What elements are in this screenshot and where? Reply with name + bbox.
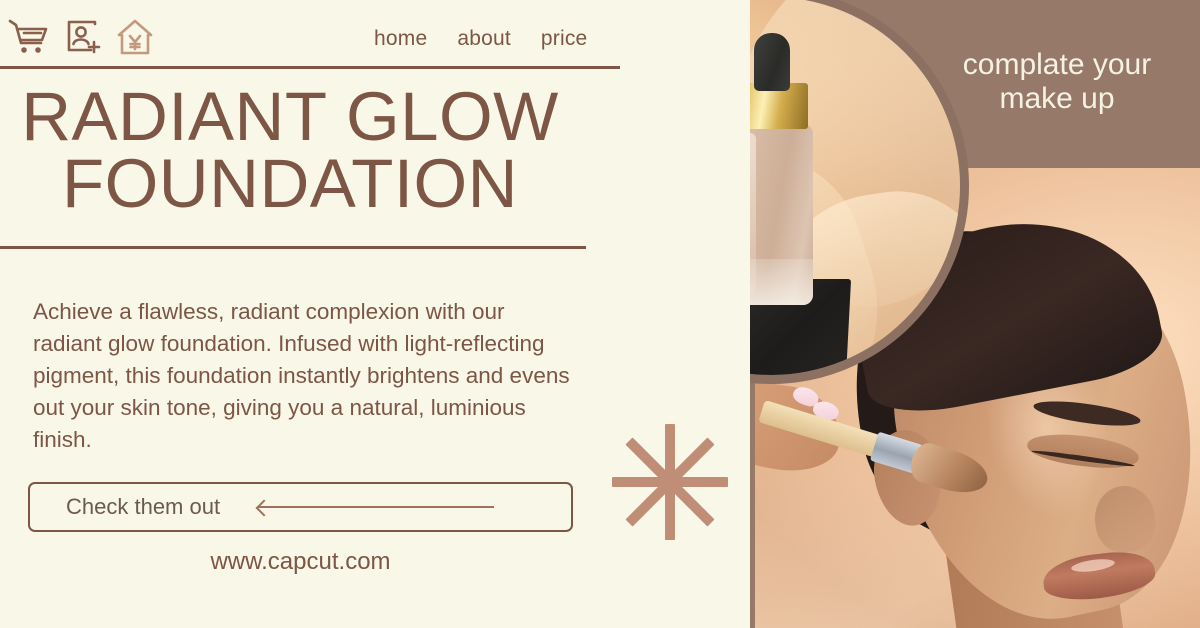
asterisk-sparkle-icon [612, 424, 728, 540]
check-them-out-button[interactable]: Check them out [28, 482, 573, 532]
divider-middle [0, 246, 586, 249]
tagline-line-1: complate your [926, 48, 1188, 82]
product-description: Achieve a flawless, radiant complexion w… [33, 296, 573, 456]
cta-label: Check them out [66, 494, 220, 520]
page-title: RADIANT GLOW FOUNDATION [0, 84, 580, 218]
home-price-icon[interactable] [116, 18, 154, 56]
tagline-line-2: make up [926, 82, 1188, 116]
nav-links: home about price [374, 27, 587, 51]
dropper-cap [754, 33, 790, 91]
divider-top [0, 66, 620, 69]
page-title-line-2: FOUNDATION [0, 151, 580, 218]
tagline: complate your make up [926, 48, 1188, 115]
page-title-line-1: RADIANT GLOW [0, 84, 580, 151]
nav-link-home[interactable]: home [374, 27, 427, 51]
nav-icon-group [8, 18, 154, 56]
shopping-cart-icon[interactable] [8, 18, 50, 56]
add-user-icon[interactable] [64, 18, 102, 56]
promo-banner: home about price RADIANT GLOW FOUNDATION… [0, 0, 1200, 628]
nav-link-price[interactable]: price [541, 27, 588, 51]
website-url[interactable]: www.capcut.com [28, 548, 573, 576]
nav-link-about[interactable]: about [457, 27, 511, 51]
arrow-left-icon [258, 506, 494, 508]
